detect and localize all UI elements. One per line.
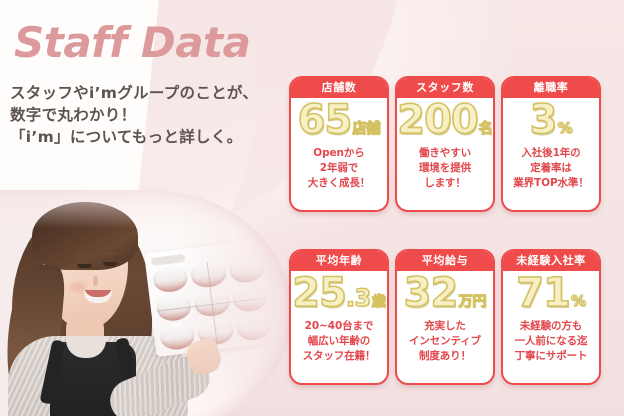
stat-card-body: 32 万円 充実した インセンティブ 制度あり！ [397,271,493,383]
stat-card-inexperienced-hire-rate[interactable]: 未経験入社率 71 % 未経験の方も 一人前になる迄 丁寧にサポート [501,249,601,385]
stat-card-label: 平均給与 [397,251,493,271]
stat-card-body: 25 .3 歳 20~40台まで 幅広い年齢の スタッフ在籍！ [291,271,387,383]
stat-value: 71 [516,273,570,313]
stat-value: 25 [292,273,346,313]
stat-card-body: 65 店舗 Openから 2年弱で 大きく成長！ [291,98,387,210]
stat-unit: 歳 [372,295,386,309]
stat-card-body: 200 名 働きやすい 環境を提供 します！ [397,98,493,210]
stat-value-row: 32 万円 [404,273,487,317]
page-subtitle: スタッフやi’mグループのことが、 数字で丸わかり！ 「i’m」についてもっと詳… [10,82,258,148]
stat-unit: 万円 [458,295,486,309]
stat-card-body: 3 % 入社後1年の 定着率は 業界TOP水準！ [503,98,599,210]
stat-unit: 店舗 [352,122,380,136]
stat-card-turnover-rate[interactable]: 離職率 3 % 入社後1年の 定着率は 業界TOP水準！ [501,76,601,212]
stat-unit: 名 [479,122,493,136]
stat-value: 200 [397,100,478,140]
stat-note: 20~40台まで 幅広い年齢の スタッフ在籍！ [301,319,378,365]
stat-value: 65 [298,100,352,140]
stat-card-grid: 店舗数 65 店舗 Openから 2年弱で 大きく成長！ スタッフ数 200 名… [289,76,615,401]
stat-value: 3 [530,100,557,140]
stat-note: 未経験の方も 一人前になる迄 丁寧にサポート [513,319,590,365]
stat-card-stores[interactable]: 店舗数 65 店舗 Openから 2年弱で 大きく成長！ [289,76,389,212]
stat-value-row: 71 % [516,273,586,317]
stat-card-staff-count[interactable]: スタッフ数 200 名 働きやすい 環境を提供 します！ [395,76,495,212]
stat-value-row: 3 % [530,100,573,144]
stat-unit: % [571,294,586,309]
staff-data-infographic: Staff Data スタッフやi’mグループのことが、 数字で丸わかり！ 「i… [0,0,624,416]
stat-card-body: 71 % 未経験の方も 一人前になる迄 丁寧にサポート [503,271,599,383]
stat-card-label: 平均年齢 [291,251,387,271]
stat-value-decimal: .3 [346,286,371,310]
stat-card-label: 店舗数 [291,78,387,98]
stat-value: 32 [404,273,458,313]
page-title: Staff Data [14,22,250,64]
stat-card-label: スタッフ数 [397,78,493,98]
stat-card-average-salary[interactable]: 平均給与 32 万円 充実した インセンティブ 制度あり！ [395,249,495,385]
staff-photo [0,190,292,416]
stat-value-row: 200 名 [397,100,493,144]
stat-note: 入社後1年の 定着率は 業界TOP水準！ [511,146,590,192]
stat-card-average-age[interactable]: 平均年齢 25 .3 歳 20~40台まで 幅広い年齢の スタッフ在籍！ [289,249,389,385]
stat-card-label: 未経験入社率 [503,251,599,271]
photo-fade-right [0,190,292,416]
stat-value-row: 65 店舗 [298,100,381,144]
photo-background [0,190,292,416]
stat-note: 充実した インセンティブ 制度あり！ [407,319,483,365]
stat-note: Openから 2年弱で 大きく成長！ [306,146,372,192]
stat-unit: % [557,121,572,136]
stat-value-row: 25 .3 歳 [292,273,386,317]
stat-card-label: 離職率 [503,78,599,98]
stat-note: 働きやすい 環境を提供 します！ [417,146,473,192]
